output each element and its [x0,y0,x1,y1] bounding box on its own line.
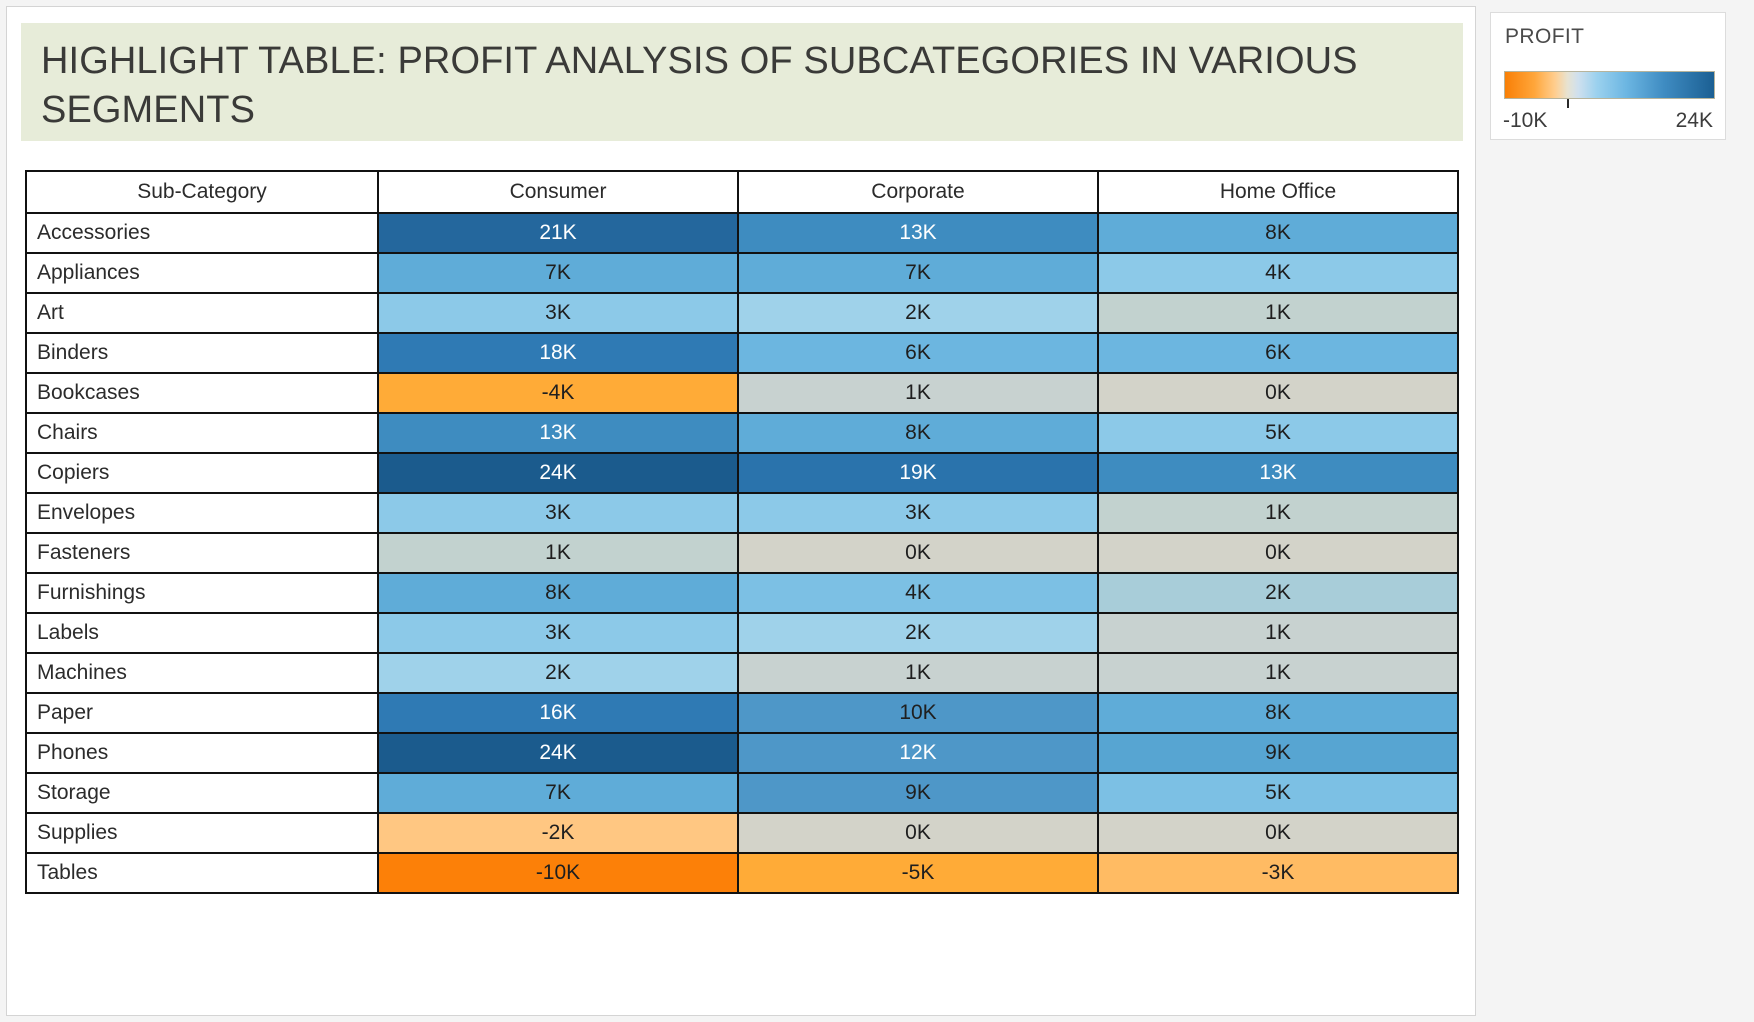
cell-value[interactable]: 1K [738,373,1098,413]
cell-value[interactable]: 2K [378,653,738,693]
table-row: Supplies-2K0K0K [26,813,1458,853]
cell-sub-category[interactable]: Copiers [26,453,378,493]
cell-value[interactable]: 0K [738,533,1098,573]
cell-value[interactable]: 8K [1098,213,1458,253]
table-row: Bookcases-4K1K0K [26,373,1458,413]
cell-value[interactable]: 12K [738,733,1098,773]
legend-zero-tick-icon [1567,99,1569,108]
cell-value[interactable]: 5K [1098,773,1458,813]
cell-sub-category[interactable]: Art [26,293,378,333]
worksheet-canvas: HIGHLIGHT TABLE: PROFIT ANALYSIS OF SUBC… [6,6,1476,1016]
cell-sub-category[interactable]: Fasteners [26,533,378,573]
right-rail: PROFIT -10K 24K [1478,0,1754,1022]
column-header-consumer[interactable]: Consumer [378,171,738,213]
legend-min-label: -10K [1503,109,1547,133]
table-row: Envelopes3K3K1K [26,493,1458,533]
cell-value[interactable]: 21K [378,213,738,253]
cell-value[interactable]: -5K [738,853,1098,893]
cell-value[interactable]: 5K [1098,413,1458,453]
cell-sub-category[interactable]: Furnishings [26,573,378,613]
cell-value[interactable]: 24K [378,453,738,493]
cell-value[interactable]: 16K [378,693,738,733]
legend-max-label: 24K [1676,109,1713,133]
cell-value[interactable]: 2K [738,293,1098,333]
cell-value[interactable]: 10K [738,693,1098,733]
cell-value[interactable]: 2K [1098,573,1458,613]
table-row: Paper16K10K8K [26,693,1458,733]
cell-value[interactable]: 1K [738,653,1098,693]
table-row: Binders18K6K6K [26,333,1458,373]
cell-value[interactable]: 24K [378,733,738,773]
cell-value[interactable]: 9K [738,773,1098,813]
cell-value[interactable]: 3K [738,493,1098,533]
cell-value[interactable]: 1K [1098,293,1458,333]
cell-sub-category[interactable]: Bookcases [26,373,378,413]
cell-value[interactable]: 3K [378,493,738,533]
cell-sub-category[interactable]: Envelopes [26,493,378,533]
cell-sub-category[interactable]: Supplies [26,813,378,853]
cell-sub-category[interactable]: Binders [26,333,378,373]
table-row: Tables-10K-5K-3K [26,853,1458,893]
cell-value[interactable]: 1K [378,533,738,573]
cell-value[interactable]: 4K [1098,253,1458,293]
cell-value[interactable]: 3K [378,293,738,333]
highlight-table-container: Sub-Category Consumer Corporate Home Off… [25,170,1457,894]
cell-sub-category[interactable]: Chairs [26,413,378,453]
cell-sub-category[interactable]: Phones [26,733,378,773]
cell-sub-category[interactable]: Tables [26,853,378,893]
page-title: HIGHLIGHT TABLE: PROFIT ANALYSIS OF SUBC… [41,37,1443,136]
cell-value[interactable]: 2K [738,613,1098,653]
cell-value[interactable]: 7K [378,253,738,293]
cell-value[interactable]: 1K [1098,613,1458,653]
highlight-table: Sub-Category Consumer Corporate Home Off… [25,170,1459,894]
table-row: Fasteners1K0K0K [26,533,1458,573]
cell-value[interactable]: 8K [1098,693,1458,733]
cell-value[interactable]: 0K [1098,533,1458,573]
column-header-home-office[interactable]: Home Office [1098,171,1458,213]
cell-value[interactable]: 3K [378,613,738,653]
cell-sub-category[interactable]: Appliances [26,253,378,293]
cell-value[interactable]: 6K [1098,333,1458,373]
cell-sub-category[interactable]: Storage [26,773,378,813]
table-body: Accessories21K13K8KAppliances7K7K4KArt3K… [26,213,1458,893]
column-header-sub-category[interactable]: Sub-Category [26,171,378,213]
cell-sub-category[interactable]: Machines [26,653,378,693]
screenshot-root: HIGHLIGHT TABLE: PROFIT ANALYSIS OF SUBC… [0,0,1754,1022]
cell-value[interactable]: 1K [1098,493,1458,533]
viz-title-band: HIGHLIGHT TABLE: PROFIT ANALYSIS OF SUBC… [21,23,1463,141]
table-row: Storage7K9K5K [26,773,1458,813]
cell-value[interactable]: 1K [1098,653,1458,693]
cell-value[interactable]: 9K [1098,733,1458,773]
table-header-row: Sub-Category Consumer Corporate Home Off… [26,171,1458,213]
cell-value[interactable]: 0K [1098,813,1458,853]
profit-legend-card[interactable]: PROFIT -10K 24K [1490,12,1726,140]
cell-value[interactable]: 8K [378,573,738,613]
legend-gradient-bar[interactable] [1504,71,1715,99]
cell-value[interactable]: 0K [738,813,1098,853]
cell-value[interactable]: -4K [378,373,738,413]
table-row: Machines2K1K1K [26,653,1458,693]
table-row: Chairs13K8K5K [26,413,1458,453]
table-row: Accessories21K13K8K [26,213,1458,253]
cell-value[interactable]: 13K [1098,453,1458,493]
cell-value[interactable]: -10K [378,853,738,893]
cell-sub-category[interactable]: Accessories [26,213,378,253]
cell-value[interactable]: 8K [738,413,1098,453]
table-row: Art3K2K1K [26,293,1458,333]
cell-value[interactable]: 4K [738,573,1098,613]
cell-sub-category[interactable]: Paper [26,693,378,733]
cell-value[interactable]: 19K [738,453,1098,493]
cell-value[interactable]: 0K [1098,373,1458,413]
cell-value[interactable]: 13K [738,213,1098,253]
cell-value[interactable]: 7K [738,253,1098,293]
table-row: Copiers24K19K13K [26,453,1458,493]
legend-title: PROFIT [1505,25,1584,49]
table-row: Labels3K2K1K [26,613,1458,653]
cell-value[interactable]: 13K [378,413,738,453]
table-row: Appliances7K7K4K [26,253,1458,293]
cell-value[interactable]: -3K [1098,853,1458,893]
column-header-corporate[interactable]: Corporate [738,171,1098,213]
cell-value[interactable]: -2K [378,813,738,853]
cell-value[interactable]: 18K [378,333,738,373]
table-row: Furnishings8K4K2K [26,573,1458,613]
cell-value[interactable]: 6K [738,333,1098,373]
table-row: Phones24K12K9K [26,733,1458,773]
cell-value[interactable]: 7K [378,773,738,813]
cell-sub-category[interactable]: Labels [26,613,378,653]
